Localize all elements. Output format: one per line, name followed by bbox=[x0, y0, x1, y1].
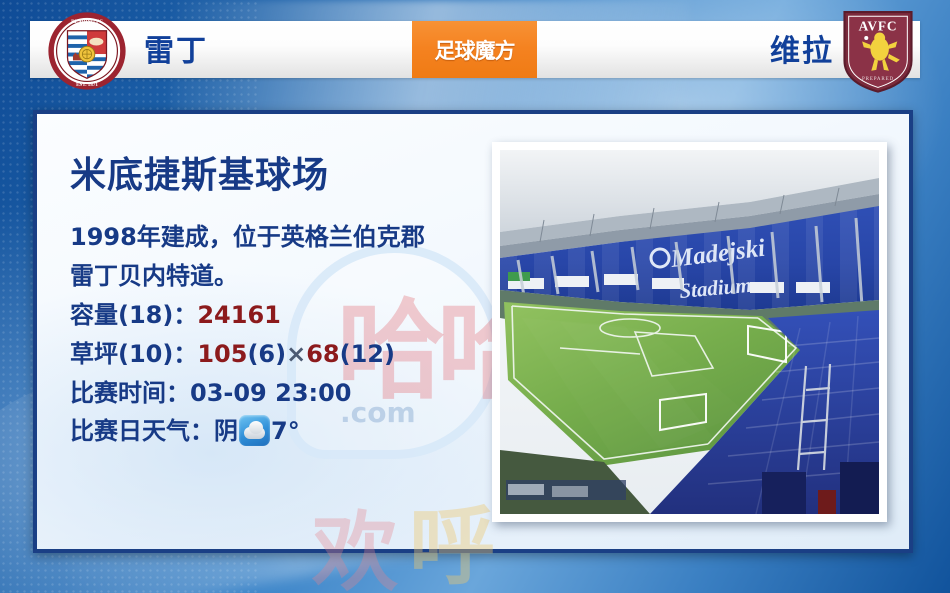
capacity-label: 容量(18)： bbox=[70, 301, 197, 329]
weather-label: 比赛日天气： bbox=[70, 417, 214, 445]
match-time-label: 比赛时间： bbox=[70, 379, 190, 407]
match-day-weather-row: 比赛日天气：阴7° bbox=[70, 412, 480, 451]
stadium-title: 米底捷斯基球场 bbox=[70, 146, 480, 198]
capacity-value: 24161 bbox=[197, 301, 281, 329]
weather-temperature: 7° bbox=[271, 417, 300, 445]
pitch-size-separator: × bbox=[286, 340, 306, 368]
brand-logo[interactable]: 足球魔方 bbox=[412, 21, 537, 78]
aston-villa-crest-icon[interactable]: AVFC PREPARED bbox=[836, 7, 920, 95]
match-header: READING FC EST. 1871 雷丁 足球魔方 维拉 AVFC PRE… bbox=[0, 0, 950, 100]
svg-text:EST. 1871: EST. 1871 bbox=[76, 82, 98, 88]
pitch-length-value: 105 bbox=[197, 340, 247, 368]
svg-text:PREPARED: PREPARED bbox=[862, 77, 894, 82]
svg-text:READING FC: READING FC bbox=[71, 19, 103, 25]
stadium-info-panel: 哈哈 .com 欢 呼 米底捷斯基球场 1998年建成，位于英格兰伯克郡 雷丁贝… bbox=[33, 110, 913, 553]
stadium-info-column: 米底捷斯基球场 1998年建成，位于英格兰伯克郡 雷丁贝内特道。 容量(18)：… bbox=[70, 146, 480, 451]
pitch-width-rank: (12) bbox=[340, 340, 395, 368]
pitch-width-value: 68 bbox=[306, 340, 339, 368]
capacity-row: 容量(18)：24161 bbox=[70, 296, 480, 335]
away-team-name: 维拉 bbox=[770, 26, 834, 70]
svg-text:AVFC: AVFC bbox=[859, 18, 898, 33]
pitch-size-row: 草坪(10)：105(6)×68(12) bbox=[70, 335, 480, 374]
madejski-stadium-photo-frame[interactable]: Madejski Stadium bbox=[492, 142, 887, 522]
match-time-row: 比赛时间：03-09 23:00 bbox=[70, 374, 480, 413]
stadium-description-line-1: 1998年建成，位于英格兰伯克郡 bbox=[70, 218, 480, 257]
madejski-stadium-photo: Madejski Stadium bbox=[500, 150, 879, 514]
cloudy-weather-icon bbox=[239, 415, 270, 446]
pitch-size-label: 草坪(10)： bbox=[70, 340, 197, 368]
weather-condition: 阴 bbox=[214, 417, 238, 445]
home-team-name: 雷丁 bbox=[144, 26, 208, 70]
match-time-value: 03-09 23:00 bbox=[190, 379, 352, 407]
stadium-description-line-2: 雷丁贝内特道。 bbox=[70, 257, 480, 296]
brand-logo-text: 足球魔方 bbox=[435, 35, 515, 65]
reading-fc-crest-icon[interactable]: READING FC EST. 1871 bbox=[48, 12, 126, 90]
pitch-length-rank: (6) bbox=[247, 340, 286, 368]
